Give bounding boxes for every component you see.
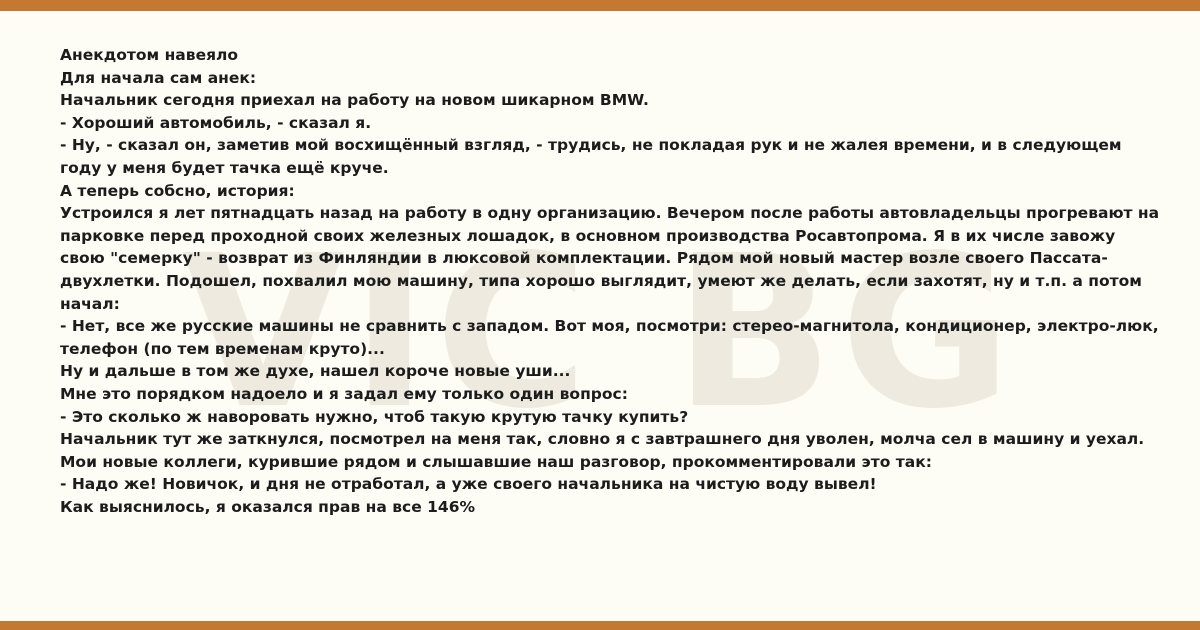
article-line: А теперь собсно, история: (60, 180, 1160, 203)
article-line: Мне это порядком надоело и я задал ему т… (60, 383, 1160, 406)
article-line: - Хороший автомобиль, - сказал я. (60, 112, 1160, 135)
article-line: Как выяснилось, я оказался прав на все 1… (60, 496, 1160, 519)
article-line: - Нет, все же русские машины не сравнить… (60, 315, 1160, 360)
article-line: - Это сколько ж наворовать нужно, чтоб т… (60, 406, 1160, 429)
article-line: Анекдотом навеяло (60, 44, 1160, 67)
article-line: - Надо же! Новичок, и дня не отработал, … (60, 473, 1160, 496)
article-line: - Ну, - сказал он, заметив мой восхищённ… (60, 134, 1160, 179)
bottom-accent-bar (0, 621, 1200, 630)
article-body: Анекдотом навеяло Для начала сам анек: Н… (60, 44, 1160, 518)
article-card: VIC BG Анекдотом навеяло Для начала сам … (0, 0, 1200, 630)
article-line: Устроился я лет пятнадцать назад на рабо… (60, 202, 1160, 315)
article-line: Мои новые коллеги, курившие рядом и слыш… (60, 451, 1160, 474)
article-line: Начальник сегодня приехал на работу на н… (60, 89, 1160, 112)
top-accent-bar (0, 0, 1200, 11)
article-line: Начальник тут же заткнулся, посмотрел на… (60, 428, 1160, 451)
article-line: Ну и дальше в том же духе, нашел короче … (60, 360, 1160, 383)
article-line: Для начала сам анек: (60, 67, 1160, 90)
